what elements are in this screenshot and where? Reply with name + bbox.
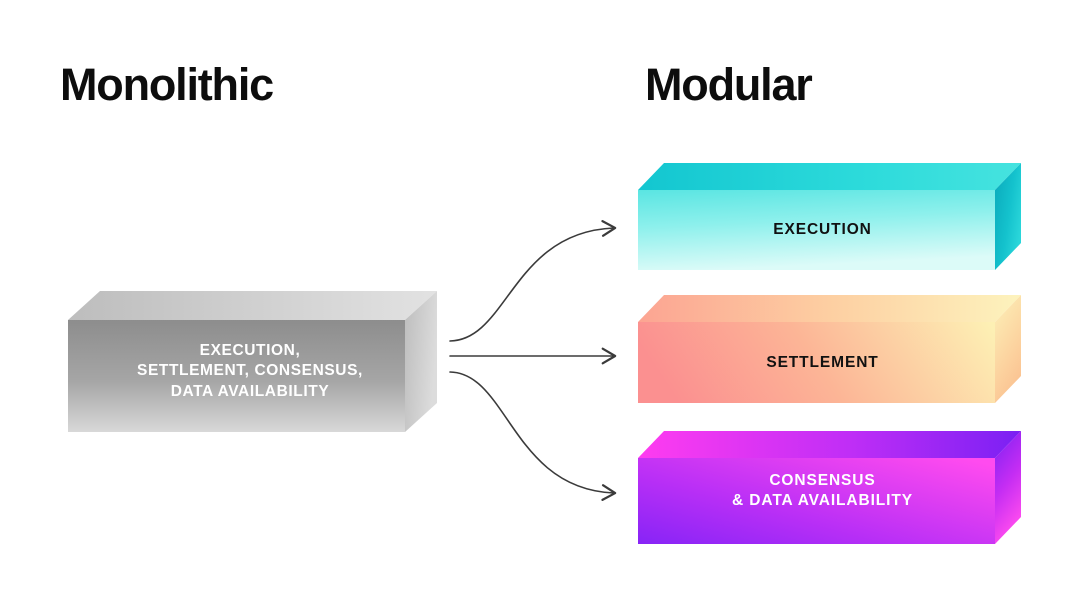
diagram-graphics: [0, 0, 1080, 606]
consensus-top-face: [638, 431, 1021, 458]
settlement-top-face: [638, 295, 1021, 322]
arrow-to-execution: [450, 228, 614, 341]
arrow-group: [450, 228, 614, 493]
settlement-front-face: [638, 322, 995, 403]
modular-block-consensus: [638, 431, 1021, 544]
diagram-canvas: Monolithic Modular: [0, 0, 1080, 606]
consensus-front-face: [638, 458, 995, 544]
monolithic-block: [68, 291, 437, 432]
monolithic-front-face: [68, 320, 405, 432]
arrow-to-consensus: [450, 372, 614, 493]
execution-top-face: [638, 163, 1021, 190]
monolithic-top-face: [68, 291, 437, 320]
modular-block-settlement: [638, 295, 1021, 403]
modular-block-execution: [638, 163, 1021, 270]
execution-front-face: [638, 190, 995, 270]
